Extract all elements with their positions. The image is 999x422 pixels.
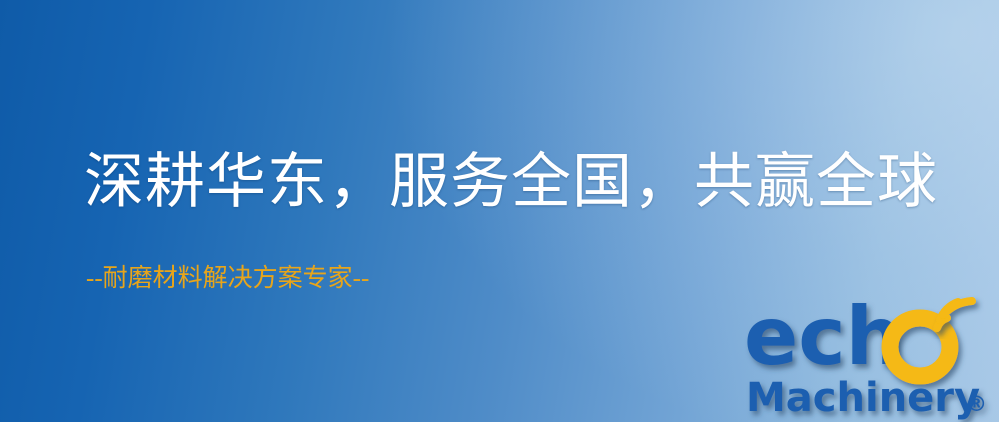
logo-graphic: ech Machinery ® xyxy=(744,292,999,422)
banner-subtitle: --耐磨材料解决方案专家-- xyxy=(86,266,369,291)
logo-signal-waves-icon xyxy=(937,301,972,328)
hero-banner: 深耕华东，服务全国，共赢全球 --耐磨材料解决方案专家-- ech xyxy=(0,0,999,422)
banner-headline: 深耕华东，服务全国，共赢全球 xyxy=(84,152,938,212)
logo-registered-mark: ® xyxy=(966,392,987,416)
echo-machinery-logo[interactable]: ech Machinery ® xyxy=(744,292,999,422)
logo-tagline-text: Machinery xyxy=(746,375,980,421)
logo-ech-text: ech xyxy=(744,292,903,383)
logo-wordmark-ech-icon: ech xyxy=(744,292,903,383)
logo-tagline-icon: Machinery ® xyxy=(746,375,987,421)
